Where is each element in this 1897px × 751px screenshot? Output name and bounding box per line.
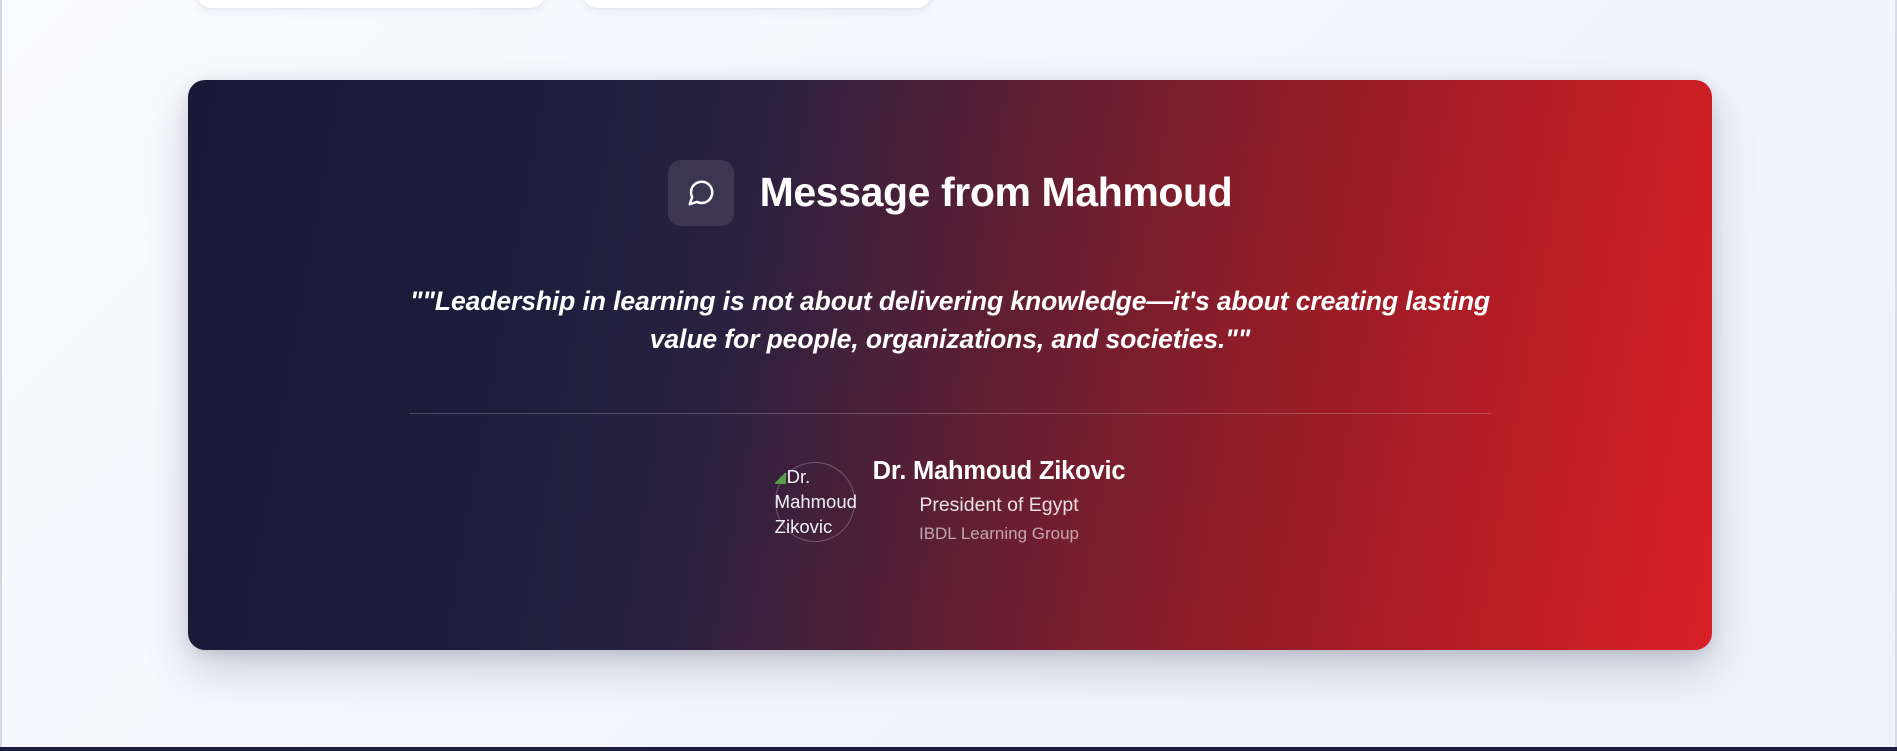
message-from-mahmoud-card: Message from Mahmoud ""Leadership in lea… bbox=[188, 80, 1712, 650]
author-role: President of Egypt bbox=[873, 493, 1126, 518]
author-organization: IBDL Learning Group bbox=[873, 523, 1126, 545]
card-header: Message from Mahmoud bbox=[188, 160, 1712, 226]
avatar: Dr. Mahmoud Zikovic bbox=[775, 462, 855, 542]
quote-text: ""Leadership in learning is not about de… bbox=[405, 282, 1495, 359]
page-left-border bbox=[0, 0, 2, 751]
attribution-block: Dr. Mahmoud Zikovic Dr. Mahmoud Zikovic … bbox=[188, 456, 1712, 547]
avatar-alt-text: Dr. Mahmoud Zikovic bbox=[763, 463, 867, 539]
attribution-text: Dr. Mahmoud Zikovic President of Egypt I… bbox=[873, 456, 1126, 547]
partial-card-1[interactable] bbox=[197, 0, 545, 8]
divider bbox=[409, 413, 1491, 414]
author-name: Dr. Mahmoud Zikovic bbox=[873, 456, 1126, 488]
card-title: Message from Mahmoud bbox=[760, 170, 1233, 215]
message-bubble-icon bbox=[668, 160, 734, 226]
page-footer-strip bbox=[0, 747, 1897, 751]
broken-image-icon bbox=[775, 472, 786, 483]
partial-card-2[interactable] bbox=[583, 0, 931, 8]
avatar-alt-label: Dr. Mahmoud Zikovic bbox=[775, 465, 857, 537]
